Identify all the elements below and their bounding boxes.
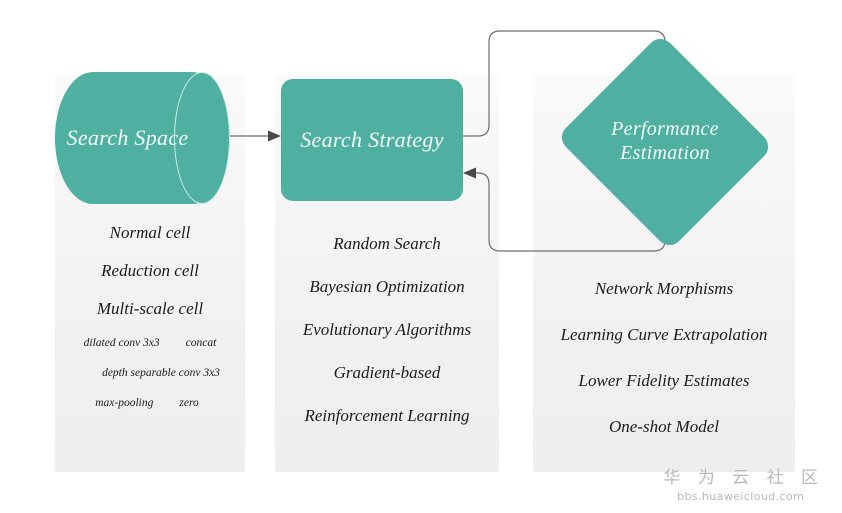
list-item: Random Search [275, 222, 499, 265]
watermark: 华 为 云 社 区 bbs.huaweicloud.com [657, 463, 824, 503]
list-item: Network Morphisms [533, 266, 795, 312]
node-search-strategy[interactable]: Search Strategy [281, 79, 463, 201]
list-item: Learning Curve Extrapolation [533, 312, 795, 358]
list-item: Lower Fidelity Estimates [533, 358, 795, 404]
operation-row: max-pooling zero [55, 388, 245, 418]
list-performance-estimation: Network Morphisms Learning Curve Extrapo… [533, 266, 795, 450]
node-search-space[interactable]: Search Space [55, 72, 230, 204]
list-search-space: Normal cell Reduction cell Multi-scale c… [55, 214, 245, 418]
operation-item: concat [186, 337, 217, 349]
list-item: Reinforcement Learning [275, 394, 499, 437]
node-search-strategy-label: Search Strategy [300, 127, 444, 153]
list-item: Reduction cell [55, 252, 245, 290]
operation-row: dilated conv 3x3 concat [55, 328, 245, 358]
operation-item: max-pooling [95, 397, 153, 409]
list-item: Normal cell [55, 214, 245, 252]
node-performance-estimation-label: Performance Estimation [552, 55, 778, 229]
list-search-strategy: Random Search Bayesian Optimization Evol… [275, 222, 499, 437]
list-item: One-shot Model [533, 404, 795, 450]
node-search-space-label: Search Space [55, 72, 200, 204]
operation-row: depth separable conv 3x3 [55, 358, 245, 388]
operation-item: depth separable conv 3x3 [102, 367, 220, 379]
watermark-url: bbs.huaweicloud.com [657, 490, 824, 503]
watermark-brand: 华 为 云 社 区 [657, 463, 824, 488]
operation-item: dilated conv 3x3 [84, 337, 160, 349]
operation-item: zero [179, 397, 198, 409]
list-item: Evolutionary Algorithms [275, 308, 499, 351]
list-item: Multi-scale cell [55, 290, 245, 328]
list-item: Gradient-based [275, 351, 499, 394]
diagram-canvas: Search Space Search Strategy Performance… [0, 0, 842, 513]
list-item: Bayesian Optimization [275, 265, 499, 308]
node-performance-estimation[interactable]: Performance Estimation [552, 55, 778, 229]
